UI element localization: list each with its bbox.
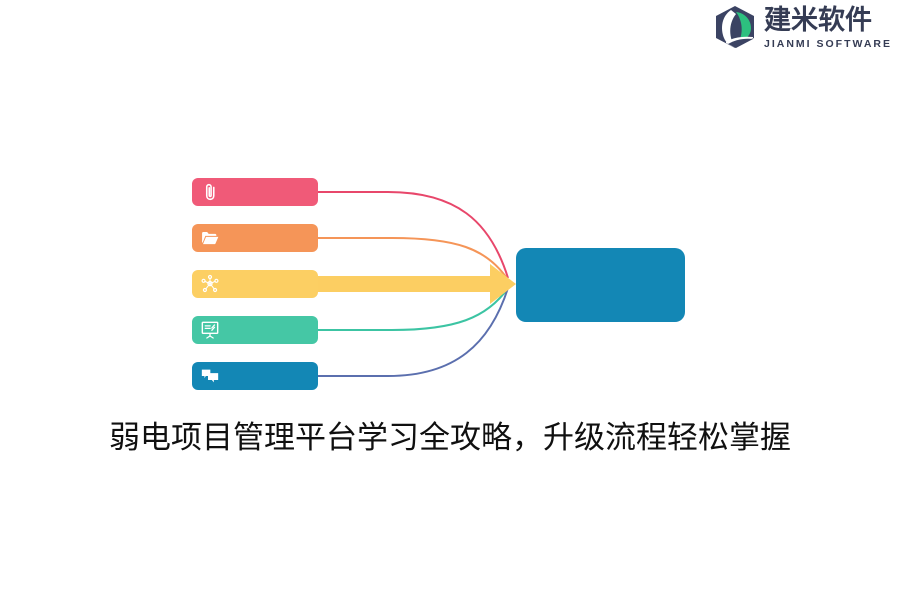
- emphasis-arrow: [318, 264, 516, 304]
- presentation-board-icon: [200, 320, 220, 340]
- jianmi-hexagon-leaf-logo-icon: [712, 4, 758, 50]
- connector-lines: [0, 0, 900, 600]
- folder-icon: [200, 228, 220, 248]
- node-bar[interactable]: [192, 270, 318, 298]
- hub-box[interactable]: [516, 248, 685, 322]
- node-bar[interactable]: [192, 316, 318, 344]
- node-bar[interactable]: [192, 362, 318, 390]
- chat-bubbles-icon: [200, 366, 220, 386]
- convergence-diagram: [0, 0, 900, 600]
- node-bar[interactable]: [192, 224, 318, 252]
- page-title: 弱电项目管理平台学习全攻略，升级流程轻松掌握: [0, 412, 900, 457]
- paperclip-icon: [200, 182, 220, 202]
- node-bar[interactable]: [192, 178, 318, 206]
- network-hub-icon: [200, 274, 220, 294]
- brand-logo: 建米软件 JIANMI SOFTWARE: [712, 0, 900, 56]
- brand-name-en: JIANMI SOFTWARE: [764, 39, 892, 50]
- brand-text: 建米软件 JIANMI SOFTWARE: [764, 7, 892, 50]
- brand-name-cn: 建米软件: [764, 7, 892, 34]
